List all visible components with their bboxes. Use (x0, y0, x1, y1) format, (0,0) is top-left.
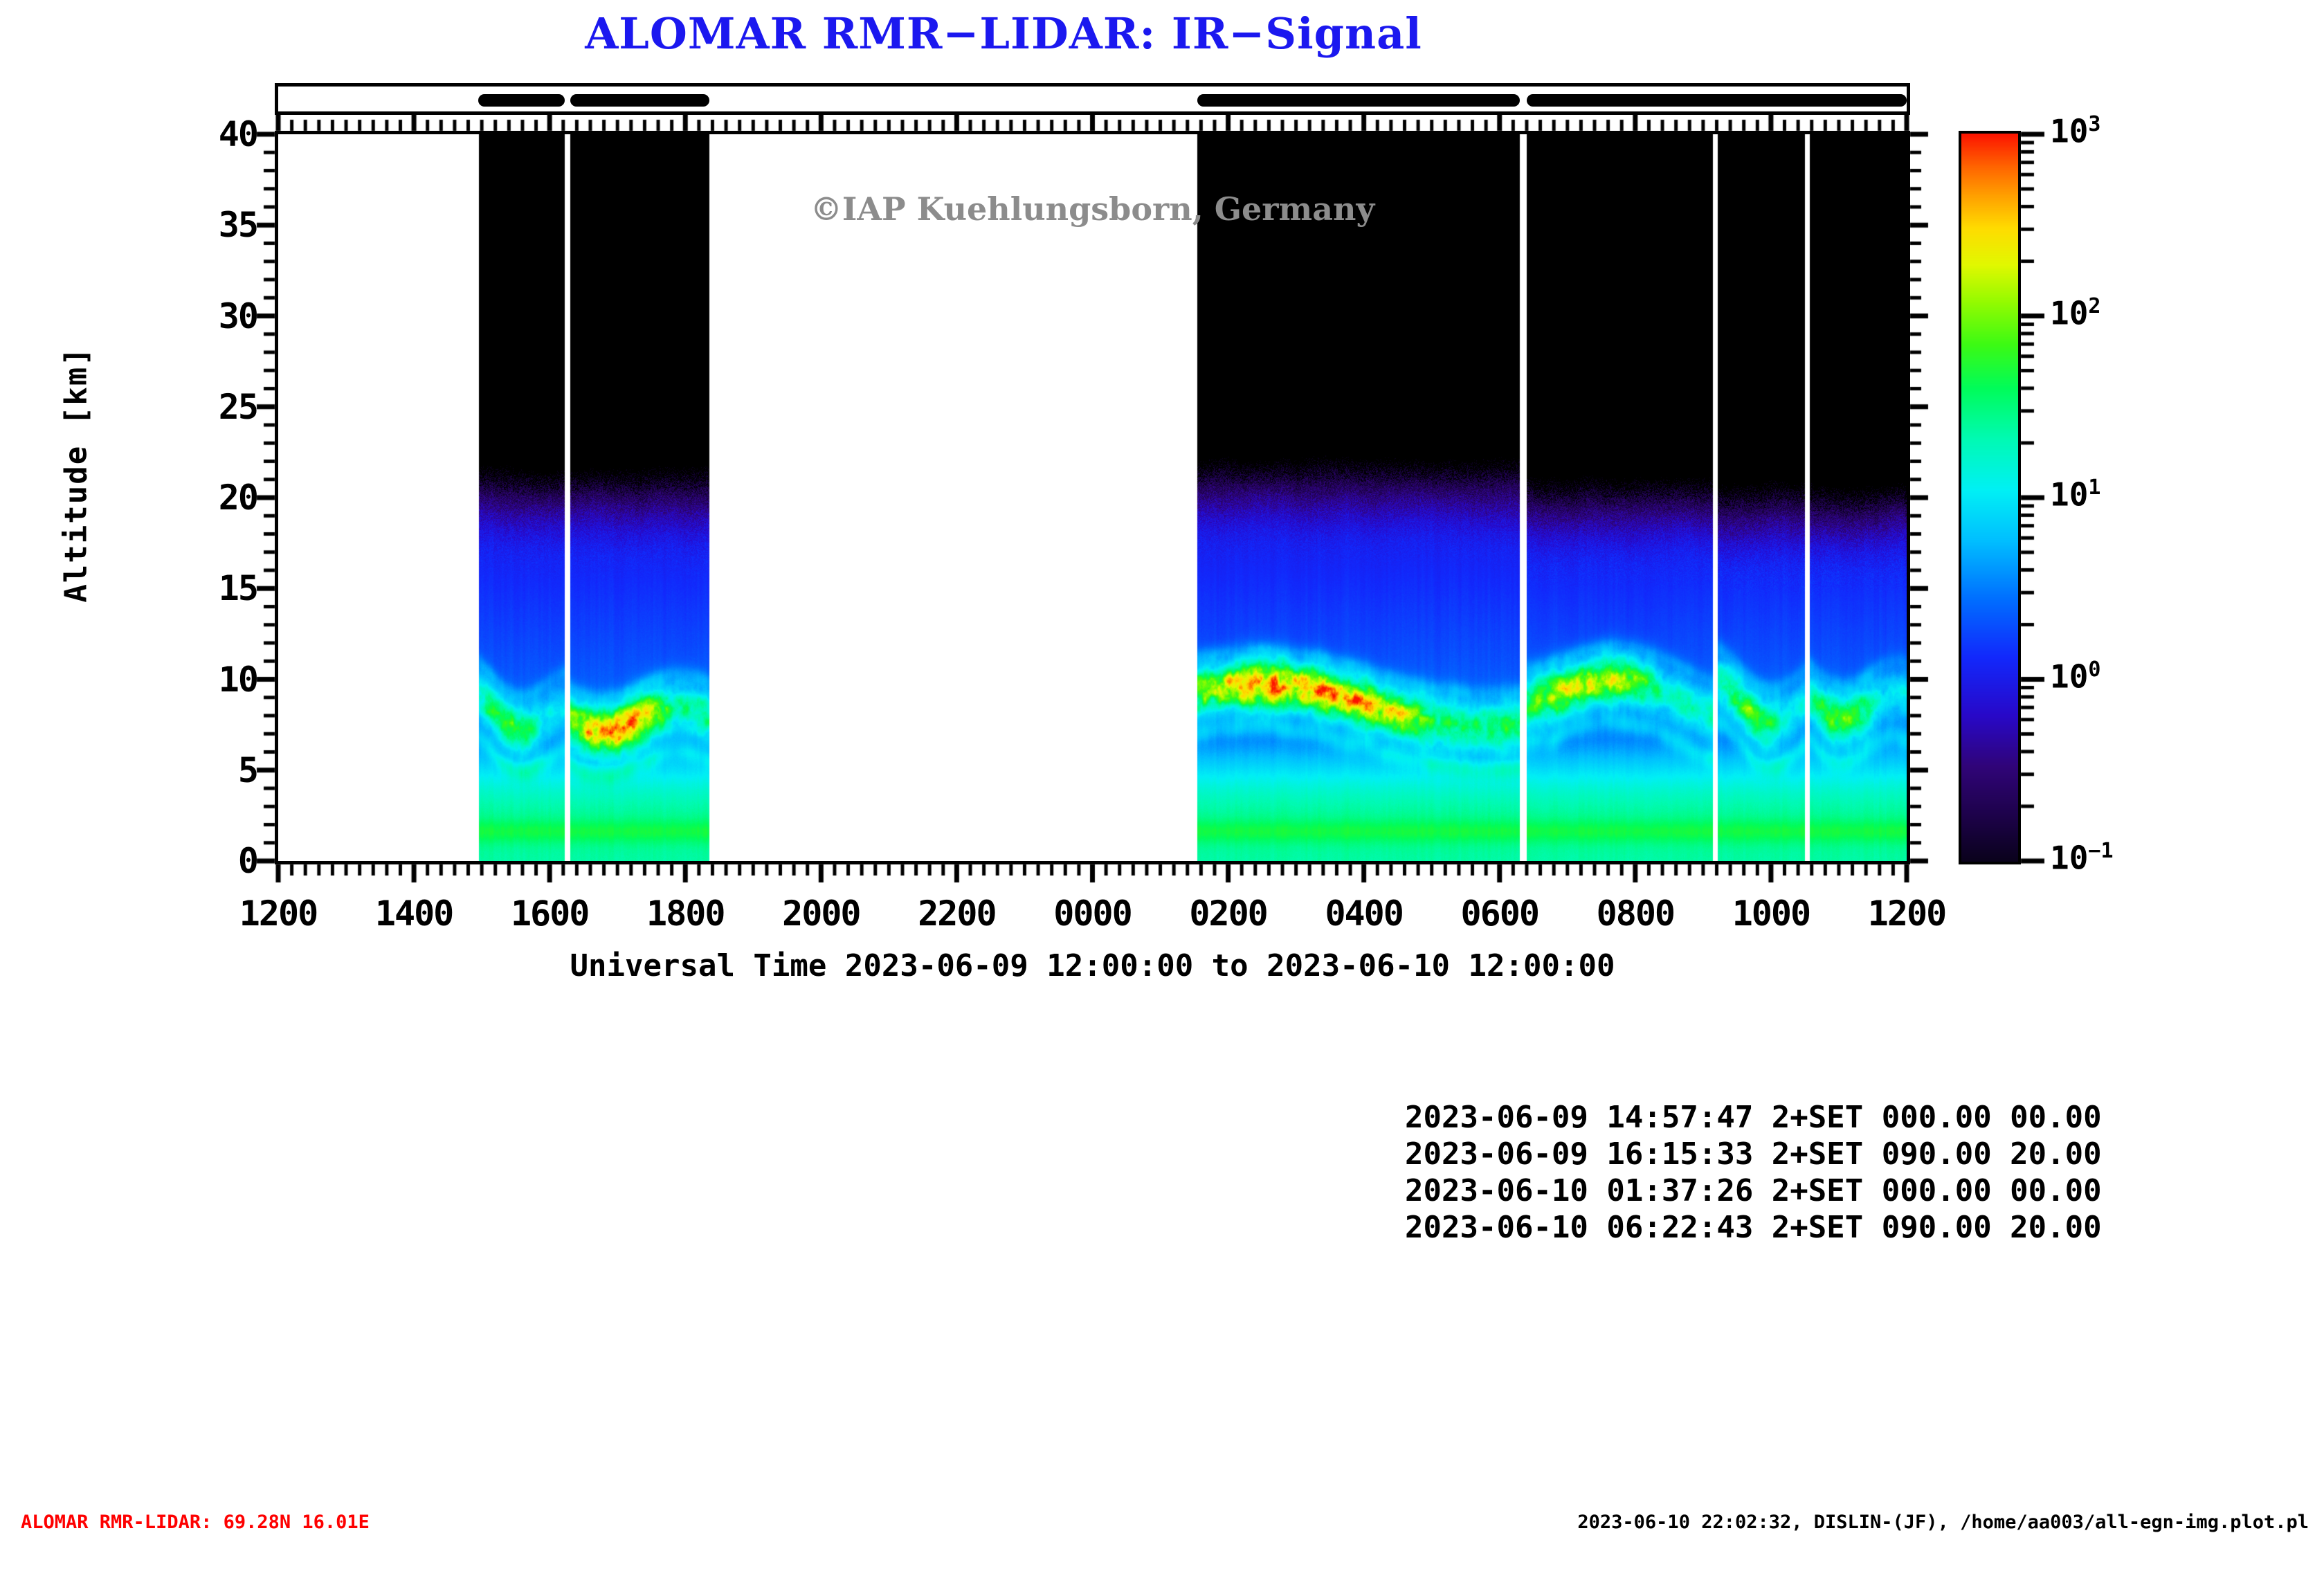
measurement-row: 2023-06-10 01:37:26 2+SET 000.00 00.00 (1405, 1172, 2102, 1209)
y-tick-label: 20 (119, 478, 257, 518)
page-title: ALOMAR RMR−LIDAR: IR−Signal (0, 8, 2007, 59)
colorbar-tick-label: 103 (2050, 112, 2100, 149)
y-tick-label: 35 (119, 205, 257, 245)
measurement-row: 2023-06-10 06:22:43 2+SET 090.00 20.00 (1405, 1209, 2102, 1246)
y-tick-label: 0 (119, 841, 257, 881)
colorbar-tick-label: 102 (2050, 294, 2100, 332)
x-tick-label: 1200 (1803, 894, 2010, 934)
lidar-heatmap-plot (275, 131, 1910, 864)
colorbar-gradient (1961, 134, 2018, 862)
measurement-row: 2023-06-09 16:15:33 2+SET 090.00 20.00 (1405, 1136, 2102, 1172)
coverage-segment (1197, 94, 1520, 107)
heatmap-canvas (278, 134, 1907, 861)
y-tick-label: 40 (119, 114, 257, 154)
colorbar (1959, 131, 2021, 864)
coverage-segment (478, 94, 565, 107)
colorbar-tick-label: 10−1 (2050, 839, 2114, 876)
coverage-segment (1527, 94, 1907, 107)
y-tick-label: 15 (119, 568, 257, 608)
colorbar-tick-label: 101 (2050, 475, 2100, 513)
y-tick-label: 30 (119, 296, 257, 336)
copyright-watermark: ©IAP Kuehlungsborn, Germany (275, 190, 1910, 228)
measurement-coverage-bar (275, 83, 1910, 115)
x-axis-title: Universal Time 2023-06-09 12:00:00 to 20… (275, 948, 1910, 983)
measurement-row: 2023-06-09 14:57:47 2+SET 000.00 00.00 (1405, 1099, 2102, 1136)
y-axis-title: Altitude [km] (59, 233, 94, 717)
y-tick-label: 5 (119, 750, 257, 790)
station-footer: ALOMAR RMR-LIDAR: 69.28N 16.01E (21, 1512, 370, 1533)
colorbar-tick-label: 100 (2050, 657, 2100, 695)
coverage-segment (570, 94, 709, 107)
generation-footer: 2023-06-10 22:02:32, DISLIN-(JF), /home/… (1577, 1512, 2309, 1533)
y-tick-label: 25 (119, 387, 257, 427)
y-tick-label: 10 (119, 660, 257, 700)
measurement-list: 2023-06-09 14:57:47 2+SET 000.00 00.0020… (1405, 1099, 2102, 1246)
